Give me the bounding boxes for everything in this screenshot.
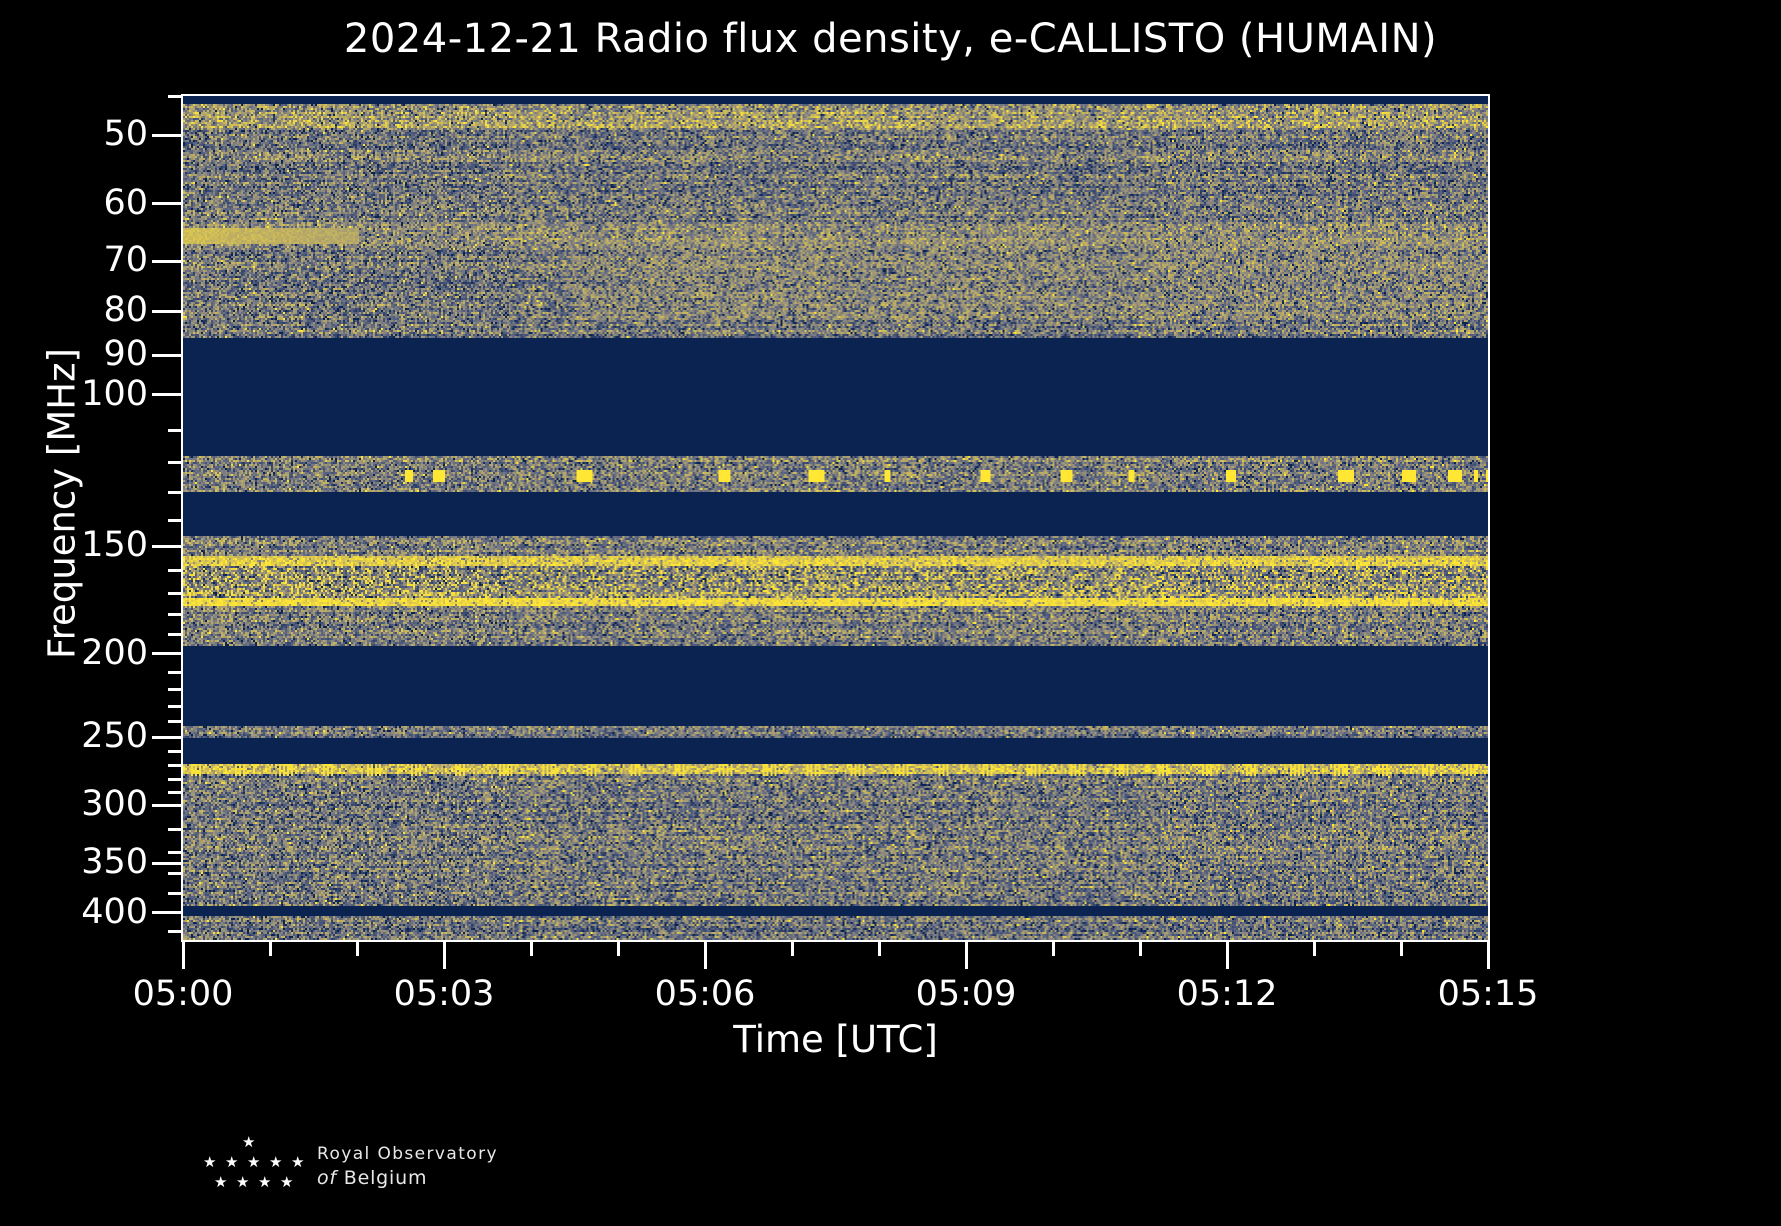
- y-tick-mark: [152, 260, 183, 263]
- y-tick-mark-minor: [168, 778, 183, 781]
- y-tick-mark-minor: [168, 613, 183, 616]
- x-tick-label: 05:06: [655, 975, 756, 1013]
- logo-of-word: of: [317, 1167, 337, 1189]
- x-tick-label: 05:09: [916, 975, 1017, 1013]
- y-tick-mark: [152, 911, 183, 914]
- x-axis-title: Time [UTC]: [183, 1018, 1488, 1061]
- y-tick-mark-minor: [168, 720, 183, 723]
- y-tick-mark-minor: [168, 851, 183, 854]
- y-tick-mark-minor: [168, 764, 183, 767]
- y-tick-mark: [152, 310, 183, 313]
- spectrogram-image: [183, 96, 1488, 940]
- x-tick-mark-minor: [269, 940, 272, 956]
- star-icon: ★: [269, 1155, 282, 1170]
- y-tick-mark: [152, 862, 183, 865]
- y-tick-mark-minor: [168, 519, 183, 522]
- y-tick-mark: [152, 736, 183, 739]
- y-tick-label: 250: [8, 719, 148, 754]
- y-tick-mark-minor: [168, 429, 183, 432]
- y-tick-mark-minor: [168, 705, 183, 708]
- y-tick-label: 200: [8, 636, 148, 671]
- y-tick-label: 300: [8, 787, 148, 822]
- logo-line-2: of Belgium: [317, 1166, 498, 1191]
- star-icon: ★: [225, 1155, 238, 1170]
- y-tick-mark-minor: [168, 930, 183, 933]
- star-icon: ★: [236, 1175, 249, 1190]
- x-tick-label: 05:15: [1438, 975, 1539, 1013]
- y-tick-label: 60: [8, 186, 148, 221]
- x-tick-mark-minor: [1139, 940, 1142, 956]
- x-tick-mark: [1487, 940, 1490, 969]
- y-tick-mark: [152, 652, 183, 655]
- y-tick-mark-minor: [168, 633, 183, 636]
- x-tick-mark: [182, 940, 185, 969]
- x-tick-mark-minor: [530, 940, 533, 956]
- x-tick-mark: [443, 940, 446, 969]
- spectrogram-plot-area: [183, 96, 1488, 940]
- x-tick-mark-minor: [878, 940, 881, 956]
- x-tick-label: 05:00: [133, 975, 234, 1013]
- star-icon: ★: [247, 1155, 260, 1170]
- x-tick-mark: [965, 940, 968, 969]
- y-tick-mark-minor: [168, 592, 183, 595]
- x-tick-mark: [1226, 940, 1229, 969]
- x-tick-label: 05:03: [394, 975, 495, 1013]
- y-tick-mark: [152, 354, 183, 357]
- y-tick-mark-minor: [168, 828, 183, 831]
- y-tick-label: 70: [8, 243, 148, 278]
- figure-canvas: 2024-12-21 Radio flux density, e-CALLIST…: [0, 0, 1781, 1226]
- x-tick-mark-minor: [617, 940, 620, 956]
- x-tick-mark: [704, 940, 707, 969]
- star-icon: ★: [242, 1135, 255, 1150]
- x-tick-label: 05:12: [1177, 975, 1278, 1013]
- y-tick-mark-minor: [168, 461, 183, 464]
- y-tick-mark-minor: [168, 872, 183, 875]
- logo-country: Belgium: [344, 1167, 428, 1189]
- y-tick-mark: [152, 202, 183, 205]
- y-tick-label: 50: [8, 117, 148, 152]
- star-icon: ★: [258, 1175, 271, 1190]
- star-icon: ★: [214, 1175, 227, 1190]
- y-tick-mark: [152, 134, 183, 137]
- y-tick-mark: [152, 545, 183, 548]
- y-tick-mark-minor: [168, 750, 183, 753]
- y-tick-label: 80: [8, 293, 148, 328]
- y-tick-label: 150: [8, 528, 148, 563]
- star-icon: ★: [280, 1175, 293, 1190]
- x-tick-mark-minor: [1052, 940, 1055, 956]
- logo-stars-icon: ★★★★★★★★★★: [195, 1135, 305, 1197]
- star-icon: ★: [291, 1155, 304, 1170]
- y-tick-label: 350: [8, 845, 148, 880]
- x-tick-mark-minor: [1400, 940, 1403, 956]
- logo-line-1: Royal Observatory: [317, 1143, 498, 1166]
- y-tick-label: 90: [8, 337, 148, 372]
- y-tick-mark-minor: [168, 95, 183, 98]
- y-tick-mark-minor: [168, 688, 183, 691]
- y-tick-mark-minor: [168, 569, 183, 572]
- chart-title: 2024-12-21 Radio flux density, e-CALLIST…: [0, 16, 1781, 62]
- y-tick-label: 100: [8, 377, 148, 412]
- y-tick-mark-minor: [168, 491, 183, 494]
- star-icon: ★: [203, 1155, 216, 1170]
- y-tick-mark: [152, 804, 183, 807]
- royal-observatory-logo: ★★★★★★★★★★ Royal Observatory of Belgium: [195, 1135, 615, 1205]
- y-tick-mark-minor: [168, 892, 183, 895]
- x-tick-mark-minor: [1313, 940, 1316, 956]
- y-tick-mark-minor: [168, 671, 183, 674]
- x-tick-mark-minor: [356, 940, 359, 956]
- x-tick-mark-minor: [791, 940, 794, 956]
- y-tick-mark: [152, 393, 183, 396]
- y-tick-label: 400: [8, 895, 148, 930]
- logo-text: Royal Observatory of Belgium: [317, 1143, 498, 1191]
- y-tick-mark-minor: [168, 791, 183, 794]
